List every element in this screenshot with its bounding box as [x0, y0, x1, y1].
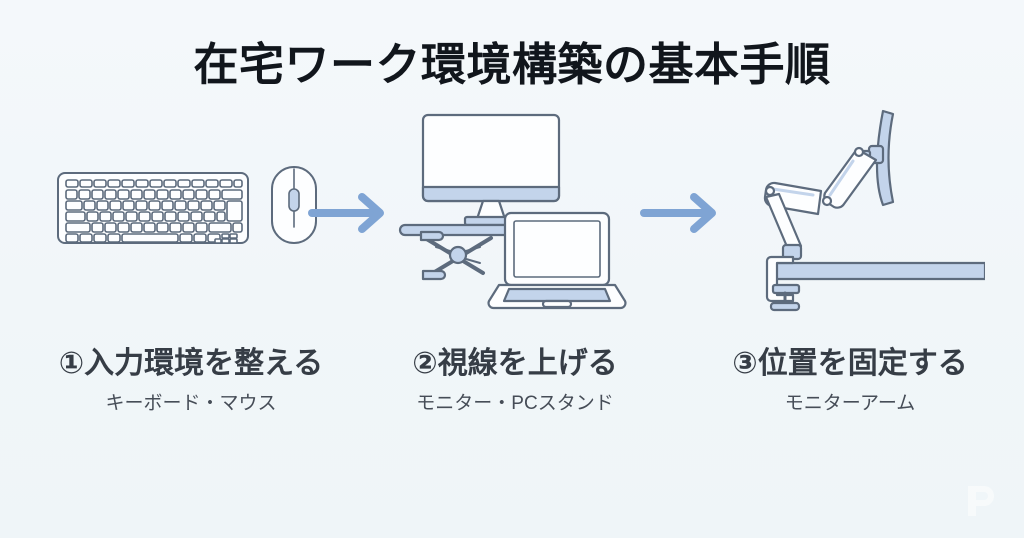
step-2-caption: ②視線を上げる モニター・PCスタンド: [360, 345, 670, 415]
step-2-title: ②視線を上げる: [360, 345, 670, 383]
caption-row: ①入力環境を整える キーボード・マウス ②視線を上げる モニター・PCスタンド …: [0, 345, 1024, 445]
step-3-title: ③位置を固定する: [690, 345, 1010, 383]
watermark-logo: [956, 478, 1002, 524]
keyboard-and-mouse-svg: [40, 105, 330, 315]
monitor-stand-and-laptop-svg: [395, 105, 635, 315]
arrow-right-icon: [640, 190, 726, 236]
infographic-root: 在宅ワーク環境構築の基本手順: [0, 0, 1024, 538]
step-3-caption: ③位置を固定する モニターアーム: [690, 345, 1010, 415]
monitor-arm-illustration: [735, 105, 985, 315]
monitor-arm-svg: [735, 105, 985, 315]
arrow-step-2-to-3: [640, 190, 726, 236]
step-1-caption: ①入力環境を整える キーボード・マウス: [16, 345, 366, 415]
page-title: 在宅ワーク環境構築の基本手順: [0, 28, 1024, 93]
arrow-step-1-to-2: [308, 190, 394, 236]
step-1-title: ①入力環境を整える: [16, 345, 366, 383]
step-1-subtitle: キーボード・マウス: [16, 393, 366, 416]
monitor-stand-and-laptop-illustration: [395, 105, 635, 315]
arrow-right-icon: [308, 190, 394, 236]
watermark-icon: [956, 478, 1002, 524]
step-2-subtitle: モニター・PCスタンド: [360, 393, 670, 416]
step-3-subtitle: モニターアーム: [690, 393, 1010, 416]
keyboard-and-mouse-illustration: [40, 105, 330, 315]
illustration-row: [0, 105, 1024, 315]
